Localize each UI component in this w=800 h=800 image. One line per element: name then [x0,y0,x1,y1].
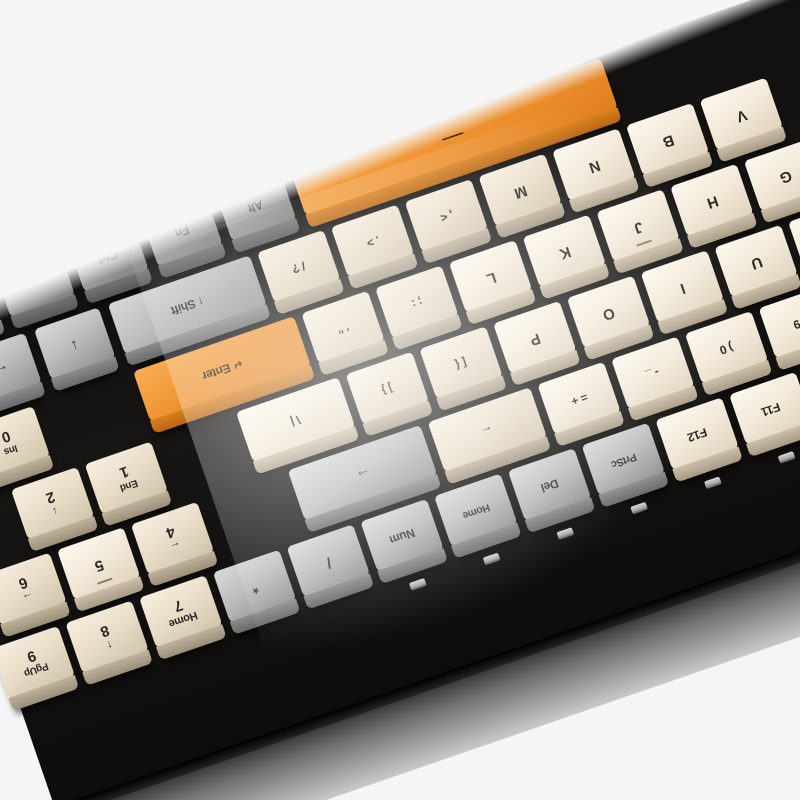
key-shift-right-label: ↑ Shift [170,294,206,317]
key-numpad-0[interactable]: Ins0 [0,406,54,491]
switch-glint [630,502,648,515]
key-k[interactable]: K [523,215,611,300]
key-del-label: Del [539,477,560,495]
key-p-label: P [528,329,542,347]
subtitle-line-1: Wired connection Type-C interface [16,136,784,164]
key-backslash[interactable]: \ | [236,377,360,475]
key-comma-label: , < [439,208,455,224]
image-background-fade [0,0,800,800]
key-v-label: V [735,106,749,124]
key-numpad-1-label: End1 [113,461,140,497]
key-9-label: ( 9 [792,315,800,331]
key-backspace[interactable]: ← [428,387,552,485]
key-numpad-6-label: →6 [15,573,35,606]
key-u-label: U [749,253,764,271]
key-numpad-7-label: Home7 [162,593,200,632]
key-arrow-right[interactable]: → [0,245,79,330]
key-numpad-5-label: 5 [93,556,106,574]
keyboard-chassis-side [58,434,800,800]
key-numpad-9-label: PgUp9 [17,644,51,682]
key-minus-label: - _ [645,366,661,382]
homing-bar-numpad-5 [97,578,113,585]
key-prtsc-label: PrtSc [610,451,638,470]
keyboard-plate-lip [55,423,800,800]
key-m[interactable]: M [478,154,566,239]
key-numpad-1[interactable]: End1 [85,442,173,527]
key-numpad-8-label: ↑8 [98,622,116,654]
key-shift-right[interactable]: ↑ Shift [108,255,271,366]
key-fn-label: Fn [173,223,190,239]
key-numpad-5[interactable]: 5 [57,527,145,612]
key-numpad-divide-label: / [324,554,333,570]
key-numpad-2[interactable]: ↓2 [11,467,99,552]
key-numpad-6[interactable]: →6 [0,553,71,638]
key-minus[interactable]: - _ [611,336,699,421]
arrow-left-icon: ← [0,360,11,380]
key-enter[interactable]: ↵ Enter [133,316,315,434]
key-bracket-right[interactable]: ] } [346,352,434,437]
subtitle-line-2: Easy to plug and unplug regardless of th… [16,168,784,196]
key-numpad-8[interactable]: ↑8 [65,600,153,685]
key-numlock[interactable]: Num [360,499,448,584]
key-k-label: K [557,243,572,261]
switch-glint [778,451,796,464]
product-banner: Portable connection Wired connection Typ… [0,0,800,800]
key-bracket-right-label: ] } [380,381,395,397]
key-period-label: . > [365,234,381,250]
key-9[interactable]: ( 9 [759,286,800,371]
arrow-right-icon: → [25,272,44,292]
key-quote-label: ' ” [336,320,351,336]
key-numpad-4[interactable]: ←4 [131,502,219,587]
key-quote[interactable]: ' ” [301,291,389,376]
key-arrow-down[interactable]: ↓ [34,307,120,392]
homing-bar-j [636,240,652,247]
key-f12[interactable]: F12 [655,397,743,482]
key-f11-label: F11 [760,400,782,418]
key-bracket-left-label: [ { [454,356,469,372]
switch-glint [704,476,722,489]
switch-glint [483,553,501,566]
key-p[interactable]: P [493,301,581,386]
arrow-down-icon: ↓ [69,336,81,353]
key-numpad-multiply[interactable]: * [213,550,301,635]
product-image-keyboard: — Alt Fn Ctrl → ↑ [0,0,800,800]
key-del[interactable]: Del [508,448,596,533]
key-numpad-7[interactable]: Home7 [139,575,227,660]
key-l-label: L [484,268,498,286]
key-home[interactable]: Home [434,474,522,559]
key-arrow-up[interactable]: ↑ [0,271,6,356]
key-numlock-label: Num [388,526,416,546]
key-numpad-divide[interactable]: / [287,524,375,609]
key-numpad-9[interactable]: PgUp9 [0,626,79,711]
key-ctrl-right-label: Ctrl [97,248,120,266]
key-i[interactable]: I [641,250,729,335]
key-arrow-left[interactable]: ← [0,333,46,418]
key-y[interactable]: Y [788,199,800,284]
key-l[interactable]: L [449,240,537,325]
key-equal[interactable]: = + [537,362,625,447]
key-spacebar-left-mod[interactable]: → [288,425,442,533]
key-f11[interactable]: F11 [729,372,800,457]
key-fn[interactable]: Fn [141,194,227,279]
key-backspace-label: ← [480,423,495,439]
switch-glint [409,578,427,591]
key-enter-label: ↵ Enter [200,357,244,383]
key-semicolon-label: ; : [410,295,424,310]
key-numpad-2-label: ↓2 [44,488,62,520]
key-period[interactable]: . > [331,204,419,289]
key-slash-label: / ? [291,259,307,275]
key-numpad-multiply-label: * [250,579,260,596]
key-semicolon[interactable]: ; : [375,265,463,350]
key-0[interactable]: ) 0 [685,311,773,396]
key-bracket-left[interactable]: [ { [419,326,507,411]
key-0-label: ) 0 [719,340,735,356]
key-j-label: J [632,218,645,236]
switch-glint [557,527,575,540]
key-j[interactable]: J [596,189,684,274]
key-numpad-0-label: Ins0 [0,426,20,460]
keyboard-body: — Alt Fn Ctrl → ↑ [0,0,800,800]
key-f12-label: F12 [686,426,709,444]
key-slash[interactable]: / ? [257,230,345,315]
arrow-right-icon-2: → [353,464,372,484]
key-o-label: O [601,304,617,323]
key-equal-label: = + [570,391,590,408]
keyboard-switch-plate [0,0,800,800]
page-title: Portable connection [28,46,772,104]
key-u[interactable]: U [714,225,800,310]
key-numpad-4-label: ←4 [163,523,183,556]
key-backslash-label: \ | [290,413,303,428]
key-ctrl-right[interactable]: Ctrl [67,220,153,305]
key-alt-right-label: Alt [247,198,265,215]
key-i-label: I [678,279,687,295]
key-home-label: Home [461,501,491,521]
key-prtsc[interactable]: PrtSc [582,423,670,508]
key-o[interactable]: O [567,275,655,360]
